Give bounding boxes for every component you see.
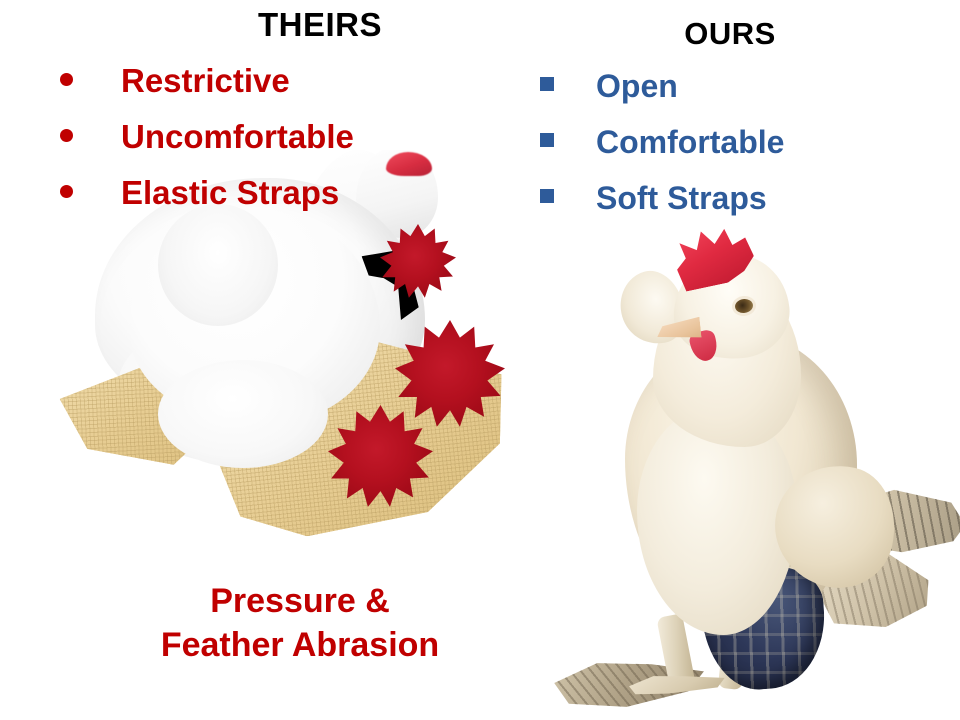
comparison-slide: THEIRS OURS [0, 0, 960, 720]
list-item: Open [540, 68, 784, 124]
bullet-dot-icon [60, 73, 73, 86]
white-hen-comb [386, 152, 432, 176]
bullet-square-icon [540, 77, 554, 91]
bullet-label: Comfortable [596, 124, 784, 161]
list-item: Soft Straps [540, 180, 784, 236]
bullet-square-icon [540, 189, 554, 203]
list-item: Comfortable [540, 124, 784, 180]
bullet-list-ours: Open Comfortable Soft Straps [540, 68, 784, 236]
bullet-dot-icon [60, 129, 73, 142]
column-heading-theirs: THEIRS [0, 6, 640, 44]
white-hen-belly-plumage [158, 360, 328, 468]
caption-theirs: Pressure & Feather Abrasion [40, 580, 560, 667]
caption-line: Pressure & [40, 580, 560, 624]
figure-buff-hen-with-navy-saddle [545, 215, 960, 720]
bullet-list-theirs: Restrictive Uncomfortable Elastic Straps [60, 62, 354, 230]
bullet-dot-icon [60, 185, 73, 198]
column-heading-ours: OURS [560, 16, 900, 52]
list-item: Restrictive [60, 62, 354, 118]
bullet-label: Open [596, 68, 678, 105]
bullet-label: Elastic Straps [121, 174, 339, 212]
caption-line: Feather Abrasion [40, 624, 560, 668]
bullet-label: Uncomfortable [121, 118, 354, 156]
bullet-square-icon [540, 133, 554, 147]
bullet-label: Soft Straps [596, 180, 767, 217]
bullet-label: Restrictive [121, 62, 290, 100]
list-item: Uncomfortable [60, 118, 354, 174]
list-item: Elastic Straps [60, 174, 354, 230]
